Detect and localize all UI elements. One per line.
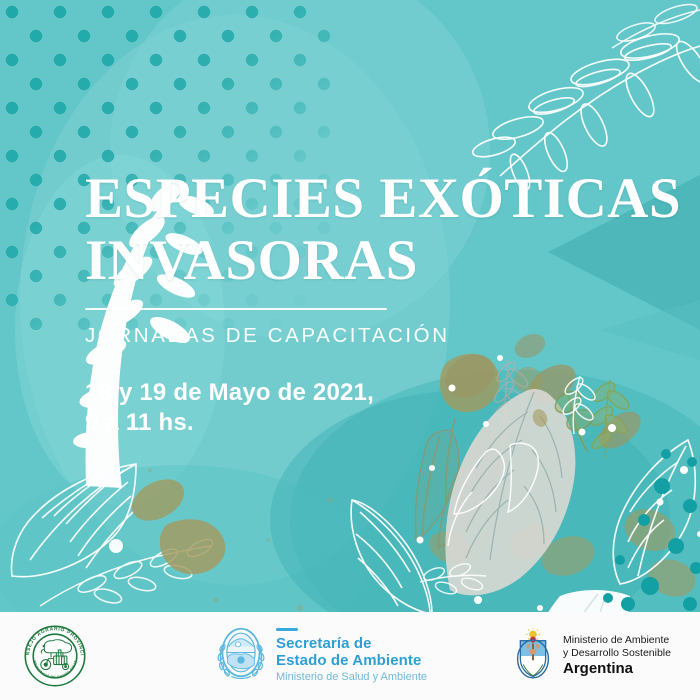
secretaria-text-block: Secretaría de Estado de Ambiente Ministe…	[276, 628, 427, 685]
argentina-line-1: Ministerio de Ambiente	[563, 634, 671, 647]
argentina-text-block: Ministerio de Ambiente y Desarrollo Sost…	[563, 634, 671, 678]
footer-logo-bar: CONSEJO AGRARIO PROVINCIAL PROVINCIA DE …	[0, 612, 700, 700]
poster-canvas: ESPECIES EXÓTICAS INVASORAS JORNADAS DE …	[0, 0, 700, 700]
secretaria-line-2: Estado de Ambiente	[276, 652, 427, 669]
argentina-line-2: y Desarrollo Sostenible	[563, 647, 671, 660]
logo-secretaria-estado-ambiente: Secretaría de Estado de Ambiente Ministe…	[215, 624, 427, 689]
argentina-coat-of-arms-icon	[512, 628, 554, 685]
secretaria-line-3: Ministerio de Salud y Ambiente	[276, 670, 427, 684]
santa-cruz-coat-of-arms-icon	[215, 624, 267, 689]
argentina-line-3: Argentina	[563, 660, 671, 678]
secretaria-accent-bar	[276, 628, 298, 632]
secretaria-line-1: Secretaría de	[276, 635, 427, 652]
logo-ministerio-ambiente-argentina: Ministerio de Ambiente y Desarrollo Sost…	[512, 628, 671, 685]
logo-consejo-agrario-provincial: CONSEJO AGRARIO PROVINCIAL PROVINCIA DE …	[22, 623, 88, 689]
consejo-agrario-seal-icon: CONSEJO AGRARIO PROVINCIAL PROVINCIA DE …	[22, 623, 88, 689]
background-artwork	[0, 0, 700, 700]
